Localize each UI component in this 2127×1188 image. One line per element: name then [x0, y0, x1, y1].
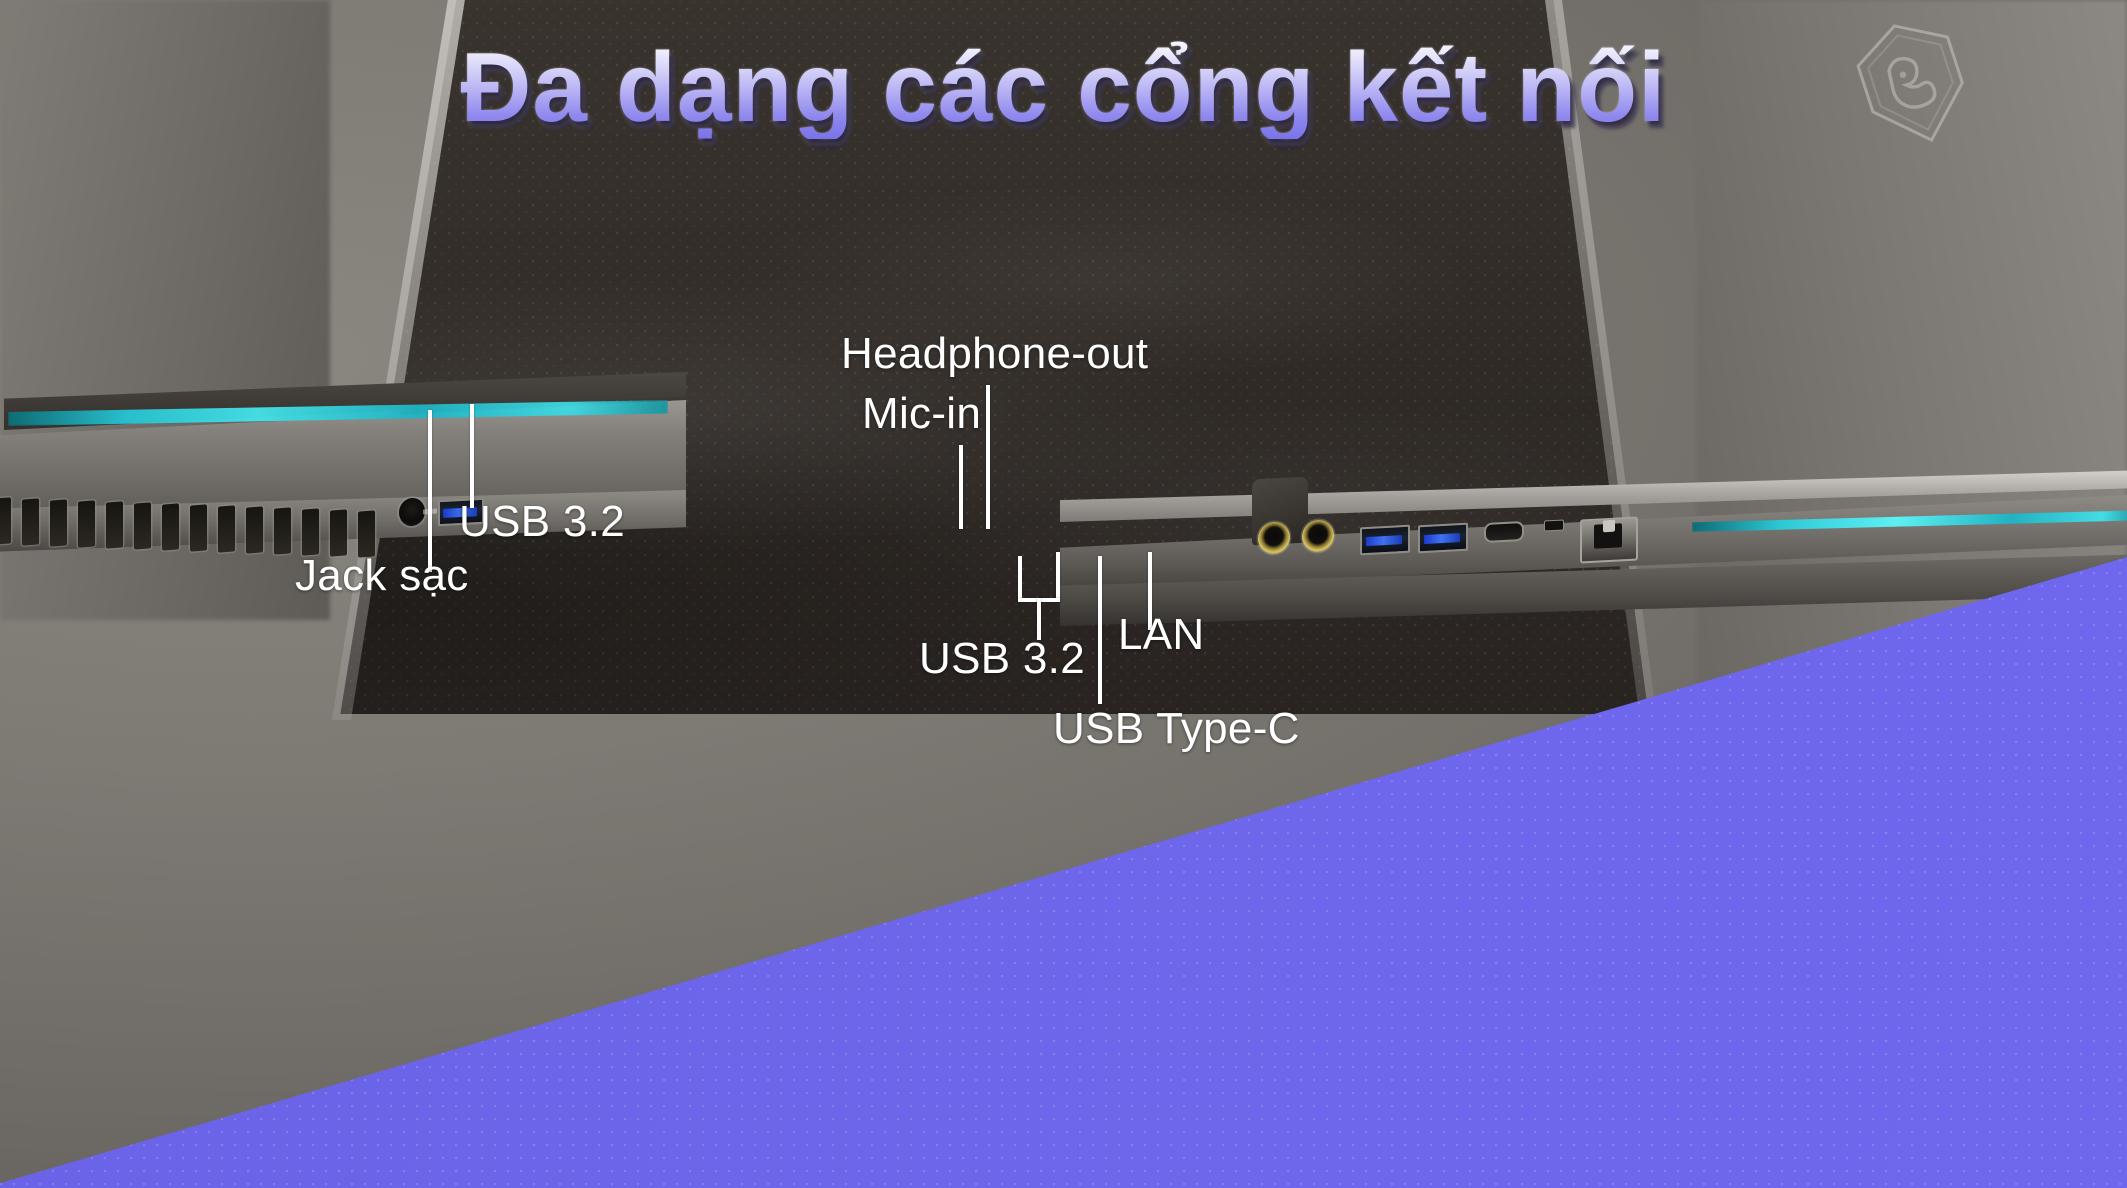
vent-slat	[246, 506, 263, 553]
callout-headphone-out: Headphone-out	[841, 332, 1148, 376]
leader-line-usb-type-c	[1098, 556, 1102, 704]
usb-blue-tongue	[1366, 535, 1402, 546]
kensington-lock-slot	[1544, 519, 1564, 531]
vent-slat	[274, 507, 291, 554]
callout-usb-32-right: USB 3.2	[919, 637, 1085, 681]
infographic-canvas: Đa dạng các cổng kết nối Đa dạng các cổn…	[0, 0, 2127, 1188]
callout-usb-type-c: USB Type-C	[1053, 707, 1300, 751]
vent-slat	[78, 500, 95, 547]
vent-slat	[218, 505, 235, 552]
leader-line-mic-in	[959, 445, 963, 529]
leader-line-jack-sac	[428, 410, 432, 572]
leader-line-usb-32-right-right-arm	[1056, 552, 1060, 602]
left-exhaust-vent-group	[0, 490, 431, 544]
vent-slat	[190, 504, 207, 551]
vent-slat	[106, 501, 123, 548]
vent-slat	[330, 509, 347, 556]
leader-line-headphone-out	[986, 385, 990, 529]
lan-tab	[1603, 520, 1615, 533]
lan-rj45-port	[1580, 516, 1638, 563]
leader-line-usb-32-left	[470, 404, 474, 508]
usb-type-c-port	[1484, 521, 1524, 543]
vent-slat	[162, 503, 179, 550]
usb-32-port-a	[1360, 525, 1410, 556]
callout-jack-sac: Jack sạc	[295, 554, 469, 598]
usb-32-port-b	[1418, 523, 1468, 554]
vent-slat	[50, 499, 67, 546]
vent-slat	[134, 502, 151, 549]
vent-slat	[0, 497, 11, 544]
callout-lan: LAN	[1118, 613, 1205, 657]
page-title: Đa dạng các cổng kết nối	[0, 36, 2127, 139]
callout-mic-in: Mic-in	[862, 392, 981, 436]
leader-line-usb-32-right-left-arm	[1018, 556, 1022, 602]
vent-slat	[22, 498, 39, 545]
vent-slat	[302, 508, 319, 555]
usb-blue-tongue	[1424, 533, 1460, 544]
callout-usb-32-left: USB 3.2	[459, 500, 625, 544]
